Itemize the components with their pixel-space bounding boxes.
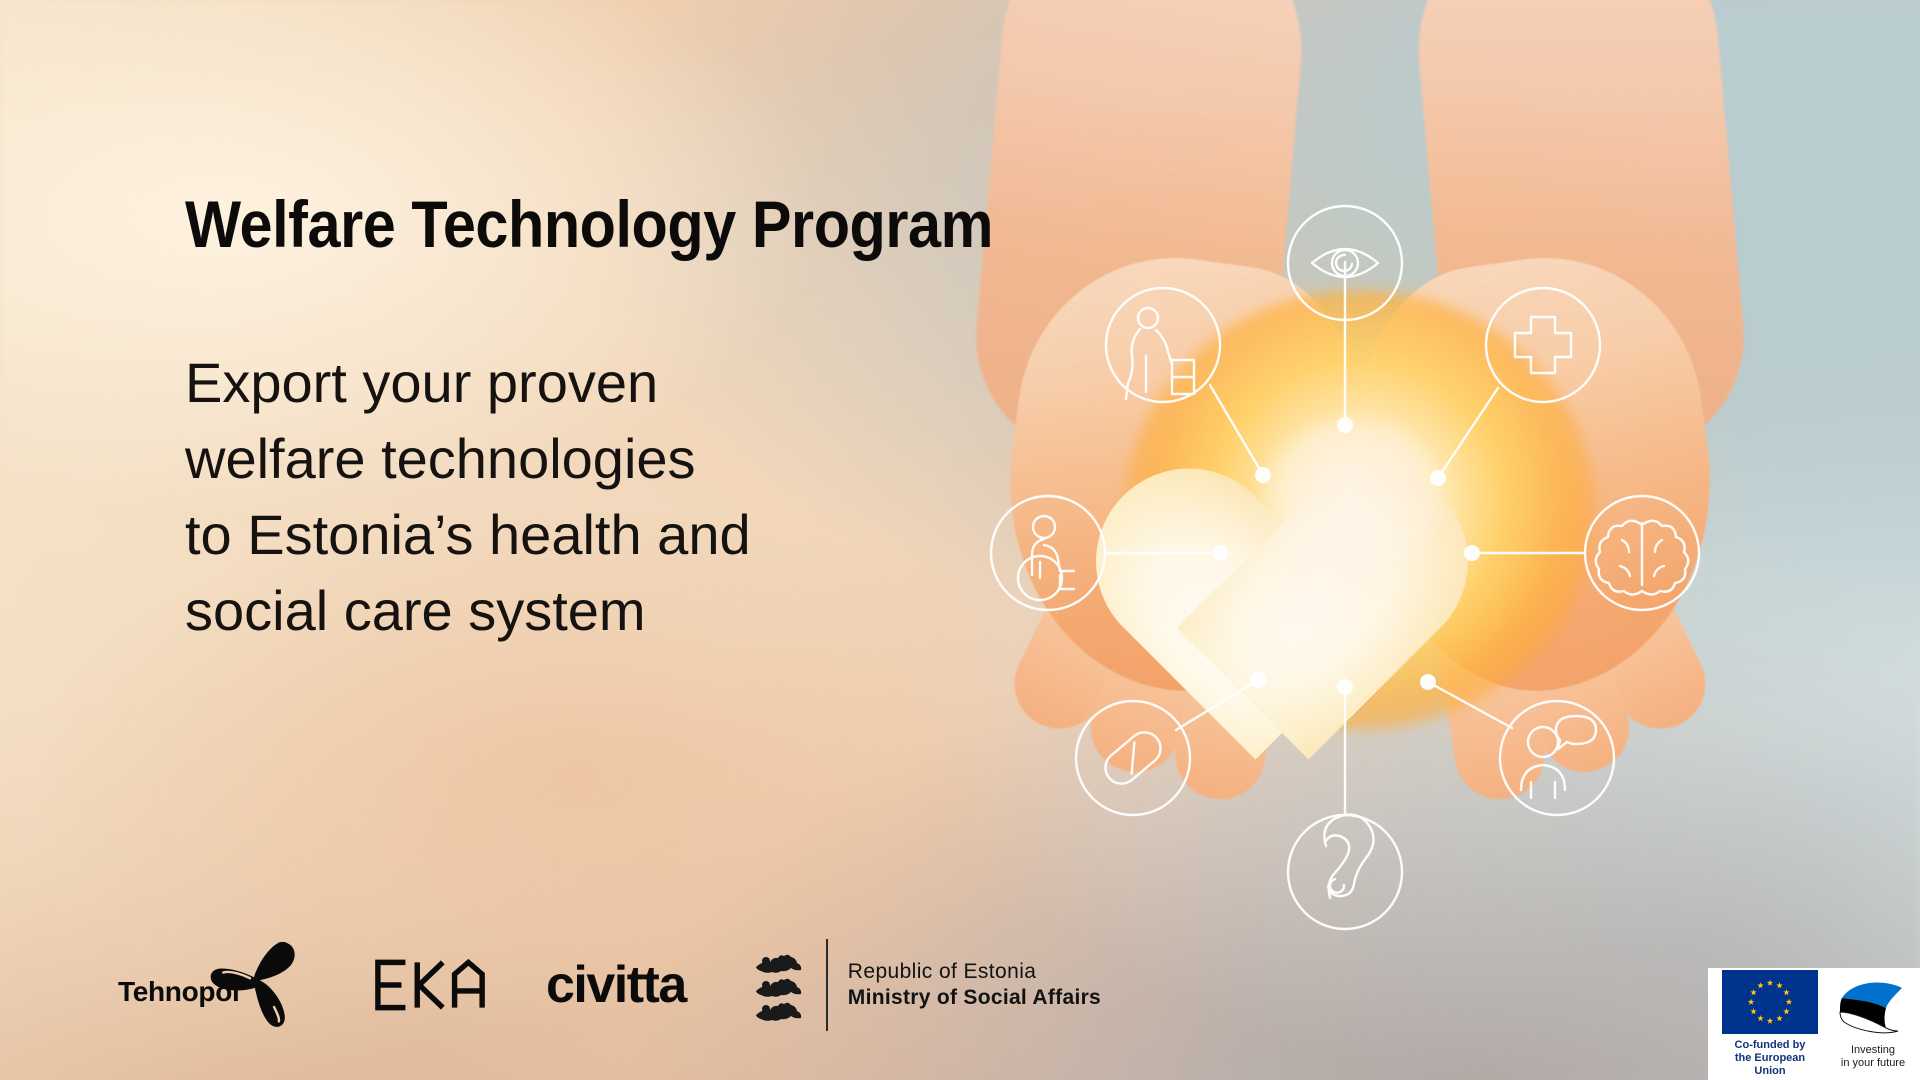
ministry-line-1: Republic of Estonia [848,960,1101,984]
logo-civitta: civitta [546,957,686,1013]
tehnopol-wordmark: Tehnopol [118,976,240,1008]
estonia-three-lions-crest-icon [752,949,808,1021]
eu-funding-badge: Co-funded by the European Union Investin… [1708,968,1920,1080]
ee-caption-line-2: in your future [1841,1057,1905,1070]
hands-holding-heart-image [950,0,1770,860]
subtitle-line: social care system [185,573,885,649]
estonia-flag-swoosh-icon [1836,978,1910,1040]
subtitle-line: to Estonia’s health and [185,497,885,573]
subtitle-line: Export your proven [185,345,885,421]
ee-caption-line-1: Investing [1841,1044,1905,1057]
ministry-divider [826,939,828,1031]
partner-logo-strip: Tehnopol civitta [110,940,1101,1030]
page-subtitle: Export your proven welfare technologies … [185,345,885,649]
logo-ministry-of-social-affairs: Republic of Estonia Ministry of Social A… [752,939,1101,1031]
poster-canvas: Welfare Technology Program Export your p… [0,0,1920,1080]
eu-caption-line-2: the European Union [1718,1052,1822,1078]
european-union-flag-icon [1722,970,1818,1034]
subtitle-line: welfare technologies [185,421,885,497]
ministry-line-2: Ministry of Social Affairs [848,986,1101,1010]
page-title: Welfare Technology Program [185,186,993,262]
photo-warm-veil [950,0,1770,860]
logo-tehnopol: Tehnopol [110,940,300,1030]
logo-eka [372,957,490,1013]
eu-caption-line-1: Co-funded by [1718,1039,1822,1052]
